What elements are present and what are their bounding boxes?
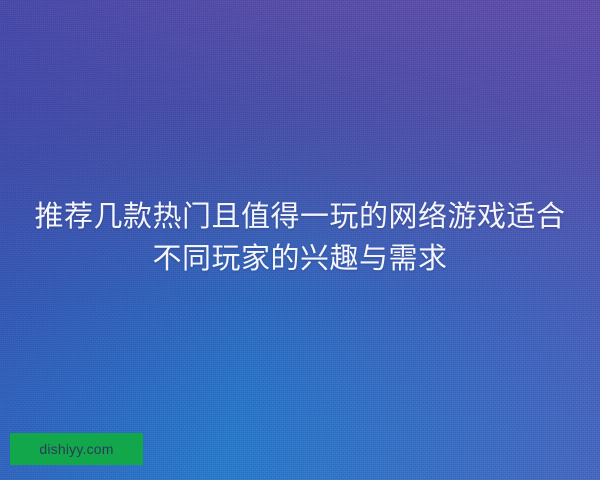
headline-title: 推荐几款热门且值得一玩的网络游戏适合 不同玩家的兴趣与需求	[0, 196, 600, 280]
headline-line-2: 不同玩家的兴趣与需求	[18, 238, 582, 280]
site-watermark-badge: dishiyy.com	[10, 433, 143, 465]
image-canvas: 推荐几款热门且值得一玩的网络游戏适合 不同玩家的兴趣与需求 dishiyy.co…	[0, 0, 600, 480]
headline-line-1: 推荐几款热门且值得一玩的网络游戏适合	[18, 196, 582, 238]
watermark-text: dishiyy.com	[39, 442, 113, 456]
